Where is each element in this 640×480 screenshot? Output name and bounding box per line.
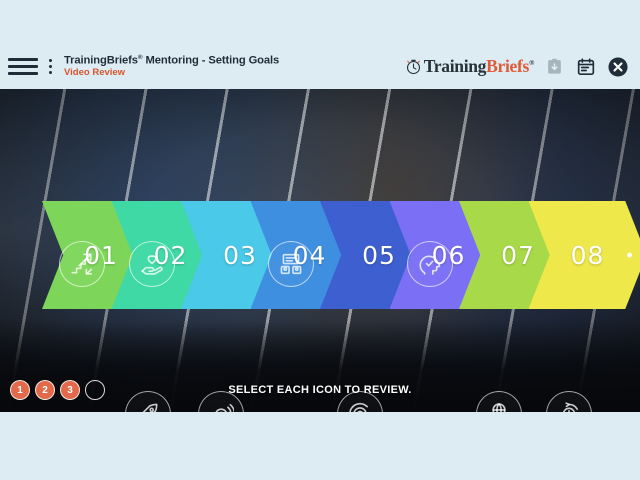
chevron-step-number: 08: [571, 241, 605, 270]
close-icon[interactable]: [606, 55, 630, 79]
clock-cycle-icon-glyph: [556, 401, 582, 412]
logo-wordmark: TrainingBriefs®: [424, 56, 534, 77]
page-title: TrainingBriefs® Mentoring - Setting Goal…: [64, 54, 279, 67]
kebab-dot: [49, 59, 52, 62]
stairs-growth-icon-glyph: [69, 251, 95, 277]
head-check-mindset-icon-glyph: [417, 251, 443, 277]
header-title-block: TrainingBriefs® Mentoring - Setting Goal…: [64, 54, 279, 79]
chevron-step-number: 05: [362, 241, 396, 270]
pagination-dot-3[interactable]: 3: [60, 380, 80, 400]
logo-text-training: Training: [424, 56, 486, 76]
page-title-rest: Mentoring - Setting Goals: [143, 55, 280, 67]
trainingbriefs-logo: TrainingBriefs®: [405, 56, 534, 77]
hamburger-icon[interactable]: [8, 58, 38, 75]
kebab-dot: [49, 65, 52, 68]
classroom-training-icon-glyph: [278, 251, 304, 277]
hamburger-bar: [8, 72, 38, 75]
hamburger-bar: [8, 65, 38, 68]
globe-people-icon-glyph: [486, 401, 512, 412]
page-subtitle: Video Review: [64, 68, 279, 79]
hand-heart-icon-glyph: [139, 251, 165, 277]
download-glyph: [545, 57, 564, 76]
stopwatch-icon: [405, 58, 422, 75]
app-header: TrainingBriefs® Mentoring - Setting Goal…: [0, 44, 640, 89]
stairs-growth-icon[interactable]: [59, 241, 105, 287]
chevron-step-number: 07: [501, 241, 535, 270]
hand-heart-icon[interactable]: [129, 241, 175, 287]
rocket-launch-icon-glyph: [135, 401, 161, 412]
hamburger-bar: [8, 58, 38, 61]
fingerprint-icon-glyph: [347, 401, 373, 412]
pagination-controls: 123: [10, 380, 105, 400]
ear-listening-icon-glyph: [208, 401, 234, 412]
chevron-step-number: 03: [223, 241, 257, 270]
kebab-dot: [49, 71, 52, 74]
app-window: TrainingBriefs® Mentoring - Setting Goal…: [0, 0, 640, 480]
pagination-dot-4[interactable]: [85, 380, 105, 400]
download-icon[interactable]: [542, 55, 566, 79]
pagination-dot-1[interactable]: 1: [10, 380, 30, 400]
video-review-stage: 0102030405060708 SELECT EACH ICON TO REV…: [0, 89, 640, 412]
chevron-step-dot: [627, 253, 632, 258]
kebab-menu-icon[interactable]: [45, 59, 55, 74]
notes-icon[interactable]: [574, 55, 598, 79]
head-check-mindset-icon[interactable]: [407, 241, 453, 287]
close-glyph: [607, 56, 629, 78]
logo-text-briefs: Briefs: [486, 56, 529, 76]
classroom-training-icon[interactable]: [268, 241, 314, 287]
pagination-dot-2[interactable]: 2: [35, 380, 55, 400]
page-title-main: TrainingBriefs: [64, 55, 138, 67]
notes-glyph: [576, 57, 596, 77]
logo-registered-mark: ®: [529, 59, 534, 67]
header-actions: TrainingBriefs®: [405, 55, 640, 79]
